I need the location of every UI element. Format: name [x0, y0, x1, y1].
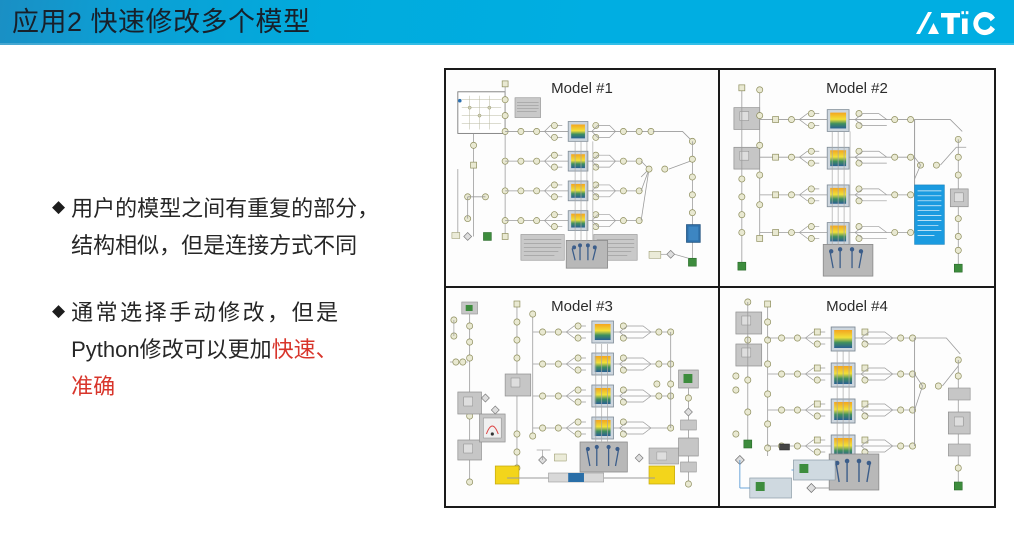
slide-title-bar: 应用2 快速修改多个模型	[0, 0, 1014, 45]
bullet-item-2: ◆ 通常选择手动修改，但是 Python修改可以更加快速、 准确	[52, 294, 444, 405]
bullet-2-text: 通常选择手动修改，但是 Python修改可以更加快速、 准确	[71, 294, 444, 405]
slide-body-left: ◆ 用户的模型之间有重复的部分， 结构相似，但是连接方式不同 ◆ 通常选择手动修…	[0, 45, 444, 536]
panel-model-2-label: Model #2	[826, 80, 888, 97]
schematic-diagram-2	[720, 70, 994, 286]
bullet-item-1: ◆ 用户的模型之间有重复的部分， 结构相似，但是连接方式不同	[52, 190, 444, 264]
schematic-diagram-4	[720, 288, 994, 506]
bullet-list: ◆ 用户的模型之间有重复的部分， 结构相似，但是连接方式不同 ◆ 通常选择手动修…	[52, 190, 444, 435]
panel-model-3-label: Model #3	[551, 298, 613, 315]
panel-model-4-label: Model #4	[826, 298, 888, 315]
bullet-2-line-1: 通常选择手动修改，但是	[71, 300, 341, 325]
bullet-2-line-2b-highlight: 快速、	[272, 337, 338, 362]
schematic-diagram-1	[446, 70, 718, 286]
bullet-diamond-icon: ◆	[52, 189, 65, 225]
panel-model-1[interactable]: Model #1	[446, 70, 720, 288]
bullet-2-line-3-highlight: 准确	[71, 374, 115, 399]
bullet-2-line-2a: Python修改可以更加	[71, 337, 272, 362]
bullet-1-text: 用户的模型之间有重复的部分， 结构相似，但是连接方式不同	[71, 190, 444, 264]
page-title: 应用2 快速修改多个模型	[12, 9, 311, 36]
model-gallery: Model #1	[444, 68, 996, 508]
bullet-1-line-2: 结构相似，但是连接方式不同	[71, 233, 357, 258]
panel-model-4[interactable]: Model #4	[720, 288, 994, 506]
bullet-diamond-icon: ◆	[52, 293, 65, 329]
panel-model-3[interactable]: Model #3	[446, 288, 720, 506]
schematic-diagram-3	[446, 288, 718, 506]
panel-model-1-label: Model #1	[551, 80, 613, 97]
bullet-1-line-1: 用户的模型之间有重复的部分，	[71, 196, 379, 221]
atic-logo	[912, 8, 998, 38]
panel-model-2[interactable]: Model #2	[720, 70, 994, 288]
